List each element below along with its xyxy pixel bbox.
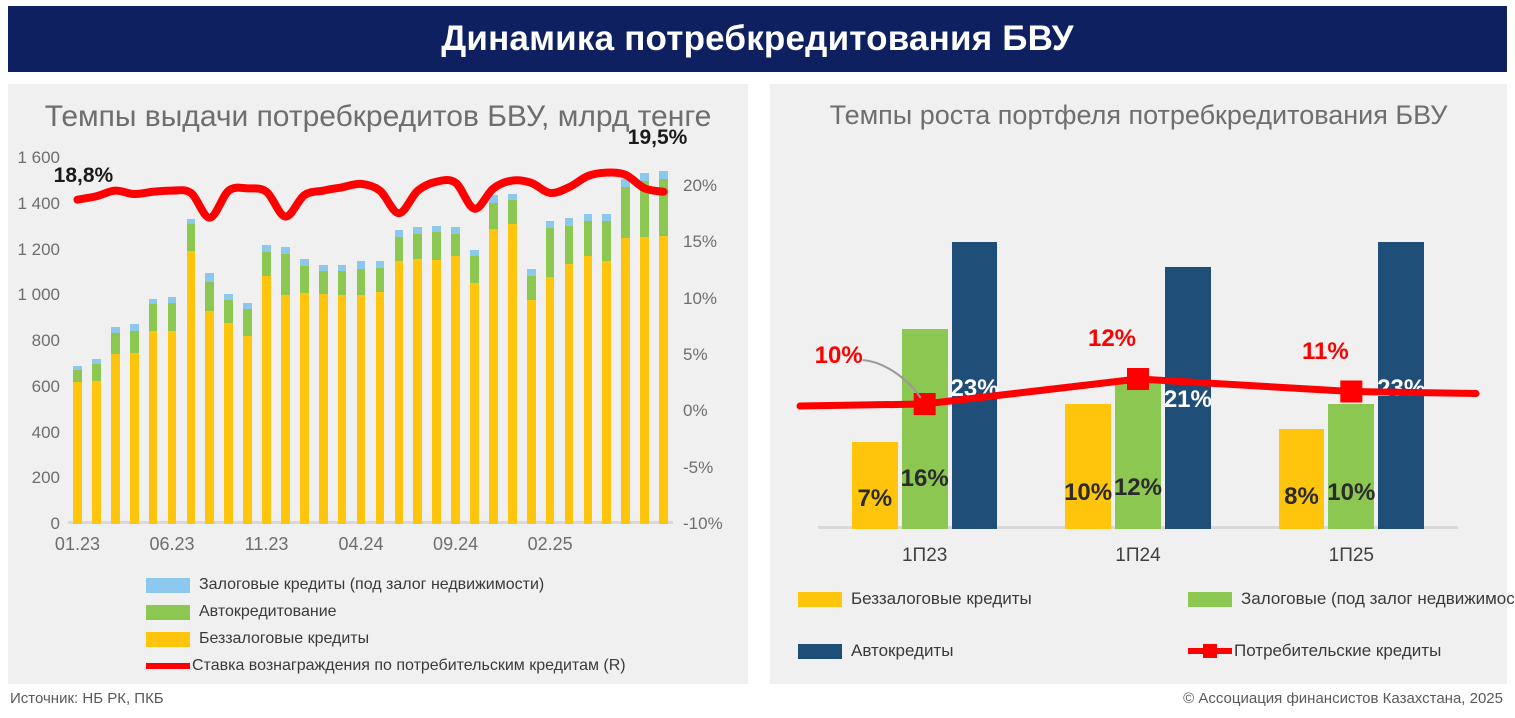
right-chart-bar: 10% — [1328, 404, 1374, 529]
left-chart-bar — [149, 299, 158, 524]
left-chart-bar-segment — [262, 252, 271, 276]
right-chart-legend-swatch-icon — [798, 644, 842, 659]
left-chart-bar — [395, 230, 404, 524]
header-banner: Динамика потребкредитования БВУ — [8, 6, 1507, 72]
left-chart-ytick: 0 — [51, 514, 60, 534]
left-chart-bar-segment — [319, 271, 328, 294]
left-chart-bar — [584, 214, 593, 524]
left-chart-bar — [546, 221, 555, 524]
left-chart-bar-segment — [168, 331, 177, 524]
left-chart-bar-segment — [546, 277, 555, 524]
right-chart-bar: 10% — [1065, 404, 1111, 529]
left-chart-legend: Залоговые кредиты (под залог недвижимост… — [146, 576, 626, 684]
left-chart-bar-segment — [281, 254, 290, 295]
left-chart-ytick: 1 200 — [17, 240, 60, 260]
left-chart-bar-segment — [357, 295, 366, 524]
left-chart-plot: 02004006008001 0001 2001 4001 600-10%-5%… — [68, 158, 673, 524]
left-chart-panel: Темпы выдачи потребкредитов БВУ, млрд те… — [8, 84, 748, 684]
left-chart-bar — [281, 247, 290, 524]
right-chart-bar-label: 16% — [901, 465, 949, 493]
left-chart-bar-segment — [187, 224, 196, 250]
left-chart-bar-segment — [338, 271, 347, 295]
left-chart-legend-label: Автокредитование — [199, 603, 337, 621]
left-chart-bar — [602, 214, 611, 524]
right-chart-bar: 12% — [1115, 379, 1161, 529]
left-chart-bar — [432, 225, 441, 524]
left-chart-bar-segment — [527, 276, 536, 300]
left-chart-bar-segment — [621, 238, 630, 524]
left-chart-bar-segment — [546, 221, 555, 228]
left-chart-y2tick: -10% — [683, 514, 723, 534]
left-chart-bar — [376, 261, 385, 524]
left-chart-bar-segment — [187, 251, 196, 524]
left-chart-bar-segment — [73, 382, 82, 524]
right-chart-legend-swatch-icon — [798, 592, 842, 607]
left-chart-bar — [489, 195, 498, 524]
left-chart-legend-label: Ставка вознаграждения по потребительским… — [192, 657, 626, 675]
left-chart-bar — [470, 250, 479, 525]
left-chart-bar-segment — [92, 364, 101, 381]
left-chart-bar-segment — [659, 179, 668, 236]
left-chart-bar-segment — [130, 353, 139, 524]
left-chart-bar-segment — [92, 381, 101, 524]
right-chart-legend-swatch-icon — [1188, 592, 1232, 607]
right-chart-group: 8%10%23%1П25 — [1245, 204, 1458, 529]
left-chart-bar — [508, 194, 517, 524]
left-chart-bar-segment — [584, 221, 593, 256]
left-chart-bar — [92, 359, 101, 524]
left-chart-bar-segment — [546, 228, 555, 277]
left-chart-bar — [262, 245, 271, 524]
left-chart-bar-segment — [470, 250, 479, 257]
left-chart-y2tick: -5% — [683, 458, 713, 478]
right-chart-xtick: 1П23 — [902, 545, 947, 567]
left-chart-bar-segment — [432, 232, 441, 259]
left-chart-bar-segment — [451, 234, 460, 257]
footer-source: Источник: НБ РК, ПКБ — [10, 690, 164, 707]
left-chart-bar-segment — [470, 256, 479, 282]
left-chart-xtick: 02.25 — [528, 534, 573, 555]
left-chart-bar — [527, 269, 536, 524]
left-chart-bar-segment — [357, 261, 366, 269]
left-chart-bar-segment — [300, 259, 309, 266]
left-chart-bar — [224, 294, 233, 524]
left-chart-bar — [243, 303, 252, 524]
left-chart-bar — [319, 265, 328, 524]
left-chart-y2tick: 15% — [683, 232, 717, 252]
left-chart-bar-segment — [584, 214, 593, 221]
left-chart-bar-segment — [565, 226, 574, 265]
right-chart-bar-label: 10% — [1327, 479, 1375, 507]
left-chart-bar-segment — [432, 260, 441, 524]
right-chart-bar-label: 23% — [950, 375, 998, 403]
right-chart-legend: Беззалоговые кредитыЗалоговые (под залог… — [798, 589, 1488, 661]
left-chart-bar-segment — [413, 259, 422, 524]
left-chart-bar — [621, 179, 630, 524]
left-chart-bar-segment — [470, 283, 479, 524]
left-chart-bar-segment — [659, 171, 668, 178]
right-chart-bar-label: 21% — [1164, 386, 1212, 414]
left-chart-bar-segment — [149, 331, 158, 524]
left-chart-bar-segment — [111, 333, 120, 354]
right-chart-bar: 21% — [1165, 267, 1211, 530]
infographic-page: Динамика потребкредитования БВУ Темпы вы… — [0, 0, 1515, 718]
right-chart-bar: 7% — [852, 442, 898, 530]
right-chart-line-label: 11% — [1302, 338, 1349, 366]
left-chart-bar-segment — [130, 331, 139, 353]
left-chart-y2tick: 5% — [683, 345, 708, 365]
left-chart-y2tick: 0% — [683, 401, 708, 421]
left-chart-bar-segment — [300, 266, 309, 293]
right-chart-bar: 23% — [1378, 242, 1424, 530]
left-chart-xtick: 01.23 — [55, 534, 100, 555]
left-chart-bar-segment — [281, 295, 290, 524]
left-chart-rate-line — [68, 158, 673, 524]
right-chart-legend-label: Потребительские кредиты — [1234, 641, 1441, 661]
left-chart-bar-segment — [395, 261, 404, 524]
left-chart-bar-segment — [602, 214, 611, 221]
right-chart-legend-line-marker-icon — [1188, 648, 1232, 654]
right-chart-xtick: 1П25 — [1329, 545, 1374, 567]
left-chart-bar-segment — [640, 181, 649, 237]
left-chart-bar-segment — [621, 179, 630, 187]
right-chart-legend-item-mortgage[interactable]: Залоговые (под залог недвижимости) — [1188, 589, 1488, 609]
left-chart-y2tick: 10% — [683, 289, 717, 309]
left-chart-legend-item-rate[interactable]: Ставка вознаграждения по потребительским… — [146, 657, 626, 675]
footer-copyright: © Ассоциация финансистов Казахстана, 202… — [1183, 690, 1503, 707]
left-chart-bar-segment — [243, 336, 252, 524]
left-chart-ytick: 1 000 — [17, 285, 60, 305]
left-chart-ytick: 400 — [32, 423, 60, 443]
left-chart-bar-segment — [621, 187, 630, 238]
right-chart-bar-label: 7% — [857, 485, 892, 513]
left-chart-legend-item-unsecured[interactable]: Беззалоговые кредиты — [146, 630, 626, 648]
left-chart-bar-segment — [584, 256, 593, 524]
left-chart-bar — [338, 265, 347, 524]
right-chart-title: Темпы роста портфеля потребкредитования … — [770, 100, 1507, 131]
right-chart-legend-label: Автокредиты — [851, 641, 953, 661]
right-chart-legend-label: Беззалоговые кредиты — [851, 589, 1032, 609]
left-chart-xtick: 11.23 — [245, 534, 289, 555]
left-chart-xtick: 09.24 — [433, 534, 478, 555]
left-chart-bar-segment — [659, 236, 668, 524]
left-chart-bar-segment — [432, 226, 441, 233]
left-chart-bar-segment — [205, 273, 214, 282]
left-chart-bar-segment — [508, 200, 517, 224]
left-chart-bar-segment — [338, 295, 347, 524]
page-title: Динамика потребкредитования БВУ — [441, 19, 1074, 59]
right-chart-group: 10%12%21%1П24 — [1031, 204, 1244, 529]
left-chart-bar — [205, 273, 214, 524]
left-chart-bar-segment — [73, 370, 82, 383]
right-chart-line-label: 12% — [1088, 325, 1136, 353]
right-chart-bar-label: 23% — [1377, 375, 1425, 403]
left-chart-legend-swatch-icon — [146, 578, 190, 593]
footer: Источник: НБ РК, ПКБ © Ассоциация финанс… — [0, 690, 1515, 718]
left-chart-bar-segment — [640, 237, 649, 524]
left-chart-annotation: 18,8% — [54, 164, 114, 188]
left-chart-bar-segment — [489, 203, 498, 229]
left-chart-bar-segment — [262, 276, 271, 524]
left-chart-bar-segment — [376, 292, 385, 524]
left-chart-bar-segment — [602, 261, 611, 524]
right-chart-line-label: 10% — [815, 342, 863, 370]
left-chart-bar — [168, 297, 177, 524]
right-chart-bar: 16% — [902, 329, 948, 529]
left-chart-bar-segment — [319, 294, 328, 524]
left-chart-bar-segment — [111, 354, 120, 524]
left-chart-bar — [73, 365, 82, 524]
left-chart-bar — [640, 173, 649, 524]
left-chart-bar-segment — [357, 269, 366, 295]
left-chart-bar-segment — [224, 300, 233, 323]
left-chart-bar-segment — [224, 323, 233, 524]
left-chart-ytick: 1 400 — [17, 194, 60, 214]
left-chart-legend-swatch-icon — [146, 632, 190, 647]
right-chart-bar: 8% — [1279, 429, 1325, 529]
right-chart-plot: 7%16%23%1П2310%12%21%1П248%10%23%1П2510%… — [818, 204, 1458, 529]
left-chart-bar-segment — [565, 264, 574, 524]
left-chart-bar-segment — [262, 245, 271, 252]
left-chart-bar-segment — [489, 195, 498, 203]
left-chart-bar-segment — [451, 256, 460, 524]
left-chart-bar-segment — [565, 218, 574, 225]
right-chart-bar-label: 8% — [1284, 483, 1319, 511]
left-chart-bar-segment — [508, 224, 517, 524]
left-chart-bar-segment — [640, 173, 649, 181]
left-chart-bar-segment — [413, 234, 422, 259]
left-chart-bar — [565, 218, 574, 524]
left-chart-bar-segment — [489, 229, 498, 524]
left-chart-bar-segment — [395, 237, 404, 261]
left-chart-xtick: 04.24 — [339, 534, 384, 555]
left-chart-y2tick: 20% — [683, 176, 717, 196]
left-chart-bar-segment — [243, 309, 252, 336]
left-chart-bar — [111, 327, 120, 524]
left-chart-bar — [659, 171, 668, 524]
left-chart-bar-segment — [281, 247, 290, 254]
right-chart-xtick: 1П24 — [1115, 545, 1160, 567]
left-chart-bar-segment — [395, 230, 404, 237]
left-chart-xtick: 06.23 — [149, 534, 194, 555]
left-chart-bar — [130, 324, 139, 524]
left-chart-bar-segment — [300, 293, 309, 524]
left-chart-bar-segment — [168, 303, 177, 330]
left-chart-bar — [187, 219, 196, 524]
right-chart-panel: Темпы роста портфеля потребкредитования … — [770, 84, 1507, 684]
left-chart-bar — [300, 259, 309, 524]
left-chart-bar-segment — [376, 268, 385, 292]
left-chart-legend-label: Залоговые кредиты (под залог недвижимост… — [199, 576, 544, 594]
left-chart-bar — [357, 261, 366, 524]
left-chart-bar — [413, 227, 422, 524]
right-chart-legend-item-consumer[interactable]: Потребительские кредиты — [1188, 641, 1488, 661]
left-chart-legend-label: Беззалоговые кредиты — [199, 630, 369, 648]
left-chart-axis-line — [68, 521, 673, 524]
left-chart-bar — [451, 227, 460, 524]
left-chart-bar-segment — [205, 282, 214, 312]
left-chart-bar-segment — [527, 300, 536, 524]
left-chart-legend-line-icon — [146, 663, 190, 669]
right-chart-legend-item-unsecured[interactable]: Беззалоговые кредиты — [798, 589, 1188, 609]
left-chart-legend-item-auto[interactable]: Автокредитование — [146, 603, 626, 621]
right-chart-bar-label: 12% — [1114, 474, 1162, 502]
left-chart-bar-segment — [602, 221, 611, 261]
left-chart-bar-segment — [205, 311, 214, 524]
left-chart-legend-item-mortgage[interactable]: Залоговые кредиты (под залог недвижимост… — [146, 576, 626, 594]
right-chart-legend-item-auto[interactable]: Автокредиты — [798, 641, 1188, 661]
left-chart-bar-segment — [130, 324, 139, 331]
left-chart-ytick: 200 — [32, 468, 60, 488]
left-chart-ytick: 800 — [32, 331, 60, 351]
left-chart-bar-segment — [149, 304, 158, 330]
left-chart-ytick: 600 — [32, 377, 60, 397]
right-chart-bar-label: 10% — [1064, 479, 1112, 507]
right-chart-legend-label: Залоговые (под залог недвижимости) — [1241, 589, 1515, 609]
right-chart-bar: 23% — [952, 242, 998, 530]
left-chart-annotation: 19,5% — [628, 126, 688, 150]
left-chart-legend-swatch-icon — [146, 605, 190, 620]
